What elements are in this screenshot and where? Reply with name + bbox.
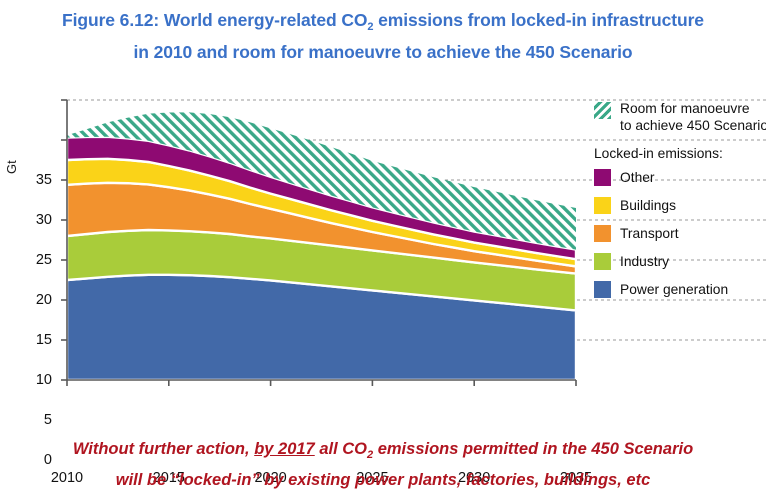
y-axis-tick-25: 25 — [22, 252, 52, 268]
power-generation-swatch-icon — [594, 281, 611, 298]
caption-part-c: emissions permitted in the 450 Scenario — [373, 440, 693, 458]
chart-series-bands — [67, 112, 576, 380]
legend-item-buildings[interactable]: Buildings — [594, 197, 766, 214]
legend-label: Buildings — [620, 197, 676, 214]
y-axis-tick-35: 35 — [22, 172, 52, 188]
legend-item-other[interactable]: Other — [594, 169, 766, 186]
figure-title-line-1-part-a: Figure 6.12: World energy-related CO — [62, 10, 367, 30]
caption-underlined-year: by 2017 — [254, 440, 315, 458]
legend-label: Power generation — [620, 281, 728, 298]
buildings-swatch-icon — [594, 197, 611, 214]
legend-heading: Locked-in emissions: — [594, 146, 766, 161]
figure-caption: Without further action, by 2017 all CO2 … — [0, 437, 766, 493]
y-axis-tick-20: 20 — [22, 292, 52, 308]
figure-title-line-1: Figure 6.12: World energy-related CO2 em… — [0, 8, 766, 40]
legend-label: Transport — [620, 225, 679, 242]
y-axis-tick-30: 30 — [22, 212, 52, 228]
y-axis-tick-5: 5 — [22, 412, 52, 428]
caption-part-a: Without further action, — [73, 440, 254, 458]
legend-item-power-generation[interactable]: Power generation — [594, 281, 766, 298]
room-label-line-1: Room for manoeuvre — [620, 101, 750, 116]
transport-swatch-icon — [594, 225, 611, 242]
legend-label: Industry — [620, 253, 669, 270]
other-swatch-icon — [594, 169, 611, 186]
y-axis-tick-15: 15 — [22, 332, 52, 348]
industry-swatch-icon — [594, 253, 611, 270]
legend-label: Other — [620, 169, 655, 186]
room-for-manoeuvre-swatch-icon — [594, 102, 611, 119]
y-axis-tick-10: 10 — [22, 372, 52, 388]
y-axis-tick-marks — [61, 100, 67, 380]
figure-caption-line-1: Without further action, by 2017 all CO2 … — [0, 437, 766, 468]
legend-item-room-label: Room for manoeuvre to achieve 450 Scenar… — [620, 100, 766, 134]
room-label-line-2: to achieve 450 Scenario — [620, 118, 766, 133]
chart-legend: Room for manoeuvre to achieve 450 Scenar… — [594, 100, 766, 309]
figure-title: Figure 6.12: World energy-related CO2 em… — [0, 8, 766, 65]
figure-caption-line-2: will be “locked-in” by existing power pl… — [0, 468, 766, 493]
legend-item-transport[interactable]: Transport — [594, 225, 766, 242]
legend-item-room-for-manoeuvre[interactable]: Room for manoeuvre to achieve 450 Scenar… — [594, 100, 766, 134]
caption-part-b: all CO — [315, 440, 367, 458]
figure-title-line-2: in 2010 and room for manoeuvre to achiev… — [0, 40, 766, 65]
legend-item-list: OtherBuildingsTransportIndustryPower gen… — [594, 169, 766, 298]
legend-item-industry[interactable]: Industry — [594, 253, 766, 270]
figure-title-line-1-part-b: emissions from locked-in infrastructure — [373, 10, 704, 30]
